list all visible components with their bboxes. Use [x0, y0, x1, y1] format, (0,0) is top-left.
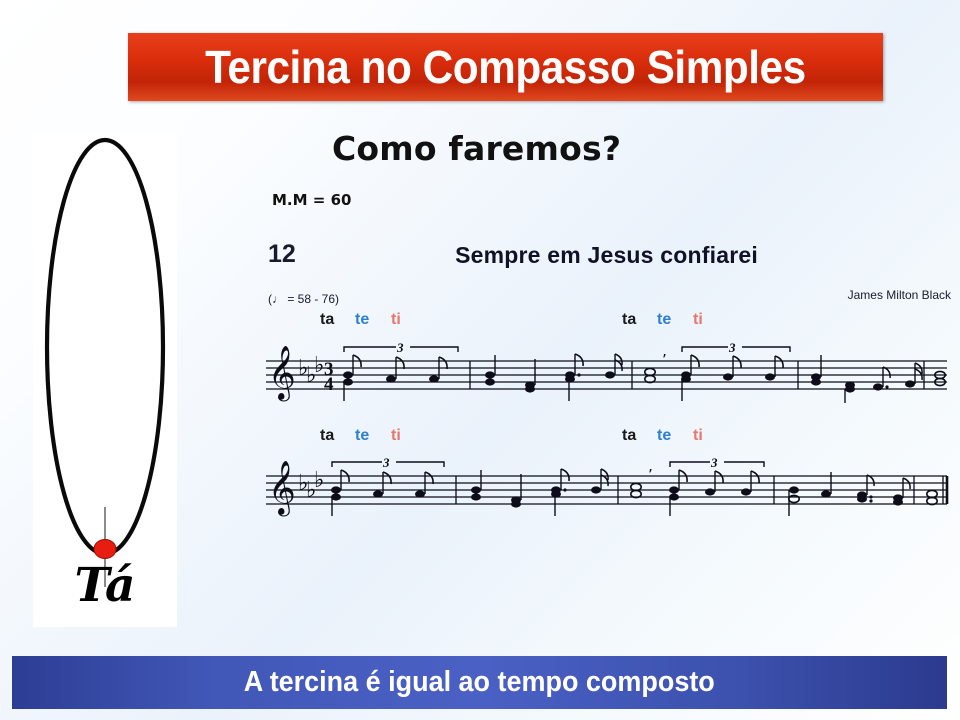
syllable-row-1: ta te ti ta te ti: [258, 312, 955, 332]
svg-text:3: 3: [728, 341, 736, 355]
bottom-banner-text: A tercina é igual ao tempo composto: [244, 668, 715, 697]
conducting-path-ellipse: [47, 140, 163, 554]
staff-system-2: 𝄞 ♭ ♭ ♭ 3: [258, 456, 955, 518]
svg-text:♭: ♭: [314, 353, 324, 378]
syllable-ti: ti: [693, 428, 703, 444]
score-tempo-marking: (♩ = 58 - 76): [268, 292, 339, 306]
page-subtitle: Como faremos?: [332, 129, 621, 168]
staff-notation-1: 𝄞 ♭ ♭ ♭ 3 4 3: [258, 341, 955, 403]
svg-text:♭: ♭: [314, 468, 324, 493]
syllable-te: te: [657, 428, 671, 444]
title-banner-text: Tercina no Compasso Simples: [205, 44, 806, 90]
beat-dot-icon: [94, 540, 116, 559]
svg-text:𝄞: 𝄞: [268, 345, 296, 402]
svg-text:3: 3: [396, 341, 404, 355]
syllable-ta: ta: [622, 312, 636, 328]
staff-system-1: 𝄞 ♭ ♭ ♭ 3 4 3: [258, 341, 955, 403]
syllable-row-2: ta te ti ta te ti: [258, 428, 955, 448]
metronome-marking: M.M = 60: [272, 191, 351, 209]
score-composer: James Milton Black: [848, 288, 951, 302]
syllable-te: te: [657, 312, 671, 328]
score-title: Sempre em Jesus confiarei: [258, 242, 955, 269]
conducting-ellipse-icon: [33, 132, 177, 627]
syllable-te: te: [355, 312, 369, 328]
beat-syllable-label: Tá: [33, 562, 177, 609]
slide-canvas: Tercina no Compasso Simples Como faremos…: [0, 0, 960, 720]
syllable-ta: ta: [622, 428, 636, 444]
svg-text:’: ’: [648, 466, 653, 484]
triplet-bracket: [682, 347, 790, 352]
music-score: 12 Sempre em Jesus confiarei (♩ = 58 - 7…: [258, 228, 955, 538]
syllable-ti: ti: [391, 312, 401, 328]
syllable-ta: ta: [320, 312, 334, 328]
svg-text:4: 4: [324, 374, 334, 395]
title-banner: Tercina no Compasso Simples: [128, 33, 883, 101]
syllable-ti: ti: [391, 428, 401, 444]
svg-text:3: 3: [710, 456, 718, 470]
svg-text:’: ’: [662, 351, 667, 369]
syllable-te: te: [355, 428, 369, 444]
syllable-ta: ta: [320, 428, 334, 444]
conducting-figure-panel: [33, 132, 177, 627]
bottom-banner: A tercina é igual ao tempo composto: [12, 656, 947, 709]
syllable-ti: ti: [693, 312, 703, 328]
svg-text:3: 3: [382, 456, 390, 470]
staff-notation-2: 𝄞 ♭ ♭ ♭ 3: [258, 456, 955, 518]
svg-text:𝄞: 𝄞: [268, 460, 296, 517]
